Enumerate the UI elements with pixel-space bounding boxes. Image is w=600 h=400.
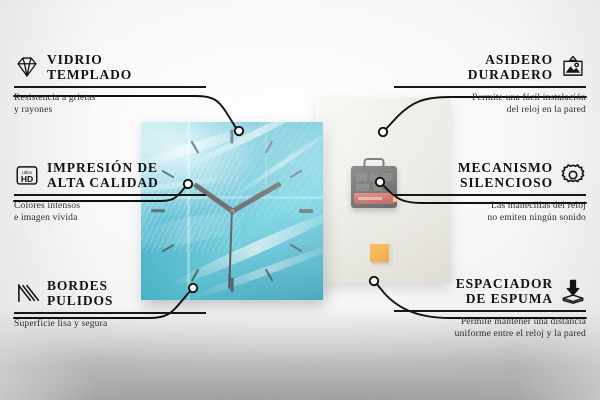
feature-title-line1: BORDES: [47, 278, 108, 293]
hour-mark: [299, 209, 313, 212]
feature-heading: ultra HD IMPRESIÓN DE ALTA CALIDAD: [14, 160, 206, 190]
feature-title-line2: DE ESPUMA: [466, 291, 553, 306]
feature-espaciador-de-espuma: ESPACIADOR DE ESPUMA Permite mantener un…: [394, 276, 586, 341]
feature-desc-line1: Permite mantener una distancia: [394, 316, 586, 329]
feature-vidrio-templado: VIDRIO TEMPLADO Resistencia a grietas y …: [14, 52, 206, 117]
feature-description: Las manecillas del reloj no emiten ningú…: [394, 200, 586, 225]
gear-icon: [560, 162, 586, 188]
feature-titles: MECANISMO SILENCIOSO: [458, 160, 553, 190]
ultra-hd-icon: ultra HD: [14, 162, 40, 188]
ultra-hd-big-label: HD: [21, 174, 33, 184]
feature-mecanismo-silencioso: MECANISMO SILENCIOSO Las manecillas del …: [394, 160, 586, 225]
feature-rule: [14, 312, 206, 314]
movement-detail: [370, 173, 379, 181]
feature-desc-line2: del reloj en la pared: [394, 104, 586, 117]
polished-edges-icon: [14, 280, 40, 306]
feature-description: Permite mantener una distancia uniforme …: [394, 316, 586, 341]
movement-detail: [356, 184, 369, 191]
feature-rule: [394, 194, 586, 196]
movement-detail: [374, 184, 382, 191]
feature-title-line1: VIDRIO: [47, 52, 103, 67]
feature-titles: IMPRESIÓN DE ALTA CALIDAD: [47, 160, 159, 190]
hanging-frame-icon: [560, 54, 586, 80]
feature-impresion-alta-calidad: ultra HD IMPRESIÓN DE ALTA CALIDAD Color…: [14, 160, 206, 225]
feature-titles: ESPACIADOR DE ESPUMA: [456, 276, 553, 306]
feature-title-line2: TEMPLADO: [47, 67, 132, 82]
feature-rule: [394, 86, 586, 88]
feature-titles: ASIDERO DURADERO: [468, 52, 553, 82]
feature-description: Permite una fácil instalación del reloj …: [394, 92, 586, 117]
feature-desc-line1: Superficie lisa y segura: [14, 318, 206, 331]
feature-asidero-duradero: ASIDERO DURADERO Permite una fácil insta…: [394, 52, 586, 117]
feature-description: Colores intensos e imagen vívida: [14, 200, 206, 225]
feature-heading: ESPACIADOR DE ESPUMA: [394, 276, 586, 306]
feature-desc-line2: uniforme entre el reloj y la pared: [394, 328, 586, 341]
feature-titles: VIDRIO TEMPLADO: [47, 52, 132, 82]
feature-title-line2: DURADERO: [468, 67, 553, 82]
feature-heading: VIDRIO TEMPLADO: [14, 52, 206, 82]
window-reflection: [265, 122, 267, 196]
feature-rule: [394, 310, 586, 312]
feature-rule: [14, 194, 206, 196]
feature-titles: BORDES PULIDOS: [47, 278, 113, 308]
feature-title-line2: ALTA CALIDAD: [47, 175, 159, 190]
feature-desc-line2: y rayones: [14, 104, 206, 117]
clock-movement-box: [351, 166, 397, 208]
feature-title-line1: ESPACIADOR: [456, 276, 553, 291]
feature-desc-line1: Resistencia a grietas: [14, 92, 206, 105]
feature-desc-line1: Colores intensos: [14, 200, 206, 213]
feature-heading: MECANISMO SILENCIOSO: [394, 160, 586, 190]
feature-desc-line1: Las manecillas del reloj: [394, 200, 586, 213]
movement-detail: [356, 173, 367, 181]
hour-mark: [230, 278, 233, 292]
aa-battery: [354, 193, 394, 204]
feature-heading: BORDES PULIDOS: [14, 278, 206, 308]
wall-hanger-icon: [364, 158, 385, 170]
feature-title-line2: SILENCIOSO: [460, 175, 553, 190]
feature-title-line2: PULIDOS: [47, 293, 113, 308]
hour-mark: [230, 130, 233, 144]
battery-label: [358, 197, 382, 200]
feature-title-line1: ASIDERO: [485, 52, 553, 67]
feature-title-line1: IMPRESIÓN DE: [47, 160, 158, 175]
diamond-icon: [14, 54, 40, 80]
movement-detail: [382, 173, 392, 181]
feature-description: Resistencia a grietas y rayones: [14, 92, 206, 117]
feature-desc-line2: e imagen vívida: [14, 212, 206, 225]
feature-description: Superficie lisa y segura: [14, 318, 206, 331]
infographic-canvas: VIDRIO TEMPLADO Resistencia a grietas y …: [0, 0, 600, 400]
feature-desc-line1: Permite una fácil instalación: [394, 92, 586, 105]
foam-spacer-pad: [370, 244, 389, 262]
feature-bordes-pulidos: BORDES PULIDOS Superficie lisa y segura: [14, 278, 206, 330]
feature-desc-line2: no emiten ningún sonido: [394, 212, 586, 225]
feature-heading: ASIDERO DURADERO: [394, 52, 586, 82]
feature-title-line1: MECANISMO: [458, 160, 553, 175]
feature-rule: [14, 86, 206, 88]
foam-spacer-arrow-icon: [560, 278, 586, 304]
